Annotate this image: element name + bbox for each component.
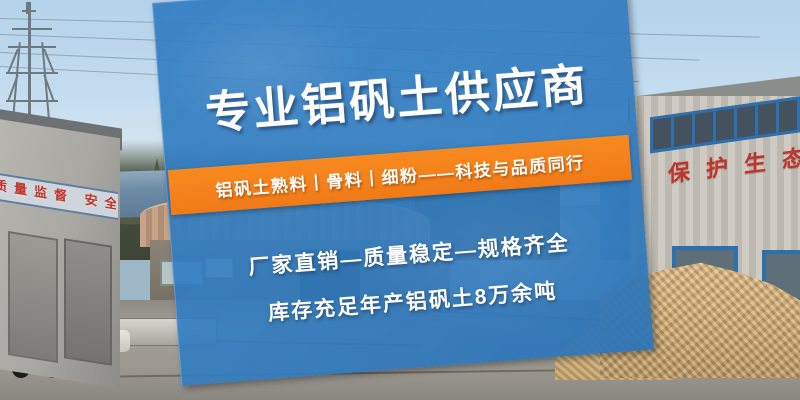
blue-overlay-panel: 专业铝矾土供应商 铝矾土熟料丨骨料丨细粉——科技与品质同行 厂家直销—质量稳定—… — [152, 0, 654, 386]
left-building-door — [64, 238, 112, 366]
headline-title: 专业铝矾土供应商 — [158, 44, 636, 145]
banner-image: 质量监督 安全为首 保护生态 专业铝矾土供应商 铝矾土熟料丨骨料丨细粉——科技与… — [0, 0, 800, 400]
left-building-door — [8, 231, 58, 363]
panel-content: 专业铝矾土供应商 铝矾土熟料丨骨料丨细粉——科技与品质同行 厂家直销—质量稳定—… — [152, 0, 654, 386]
orange-ribbon: 铝矾土熟料丨骨料丨细粉——科技与品质同行 — [168, 135, 632, 215]
ribbon-text: 铝矾土熟料丨骨料丨细粉——科技与品质同行 — [215, 148, 586, 201]
